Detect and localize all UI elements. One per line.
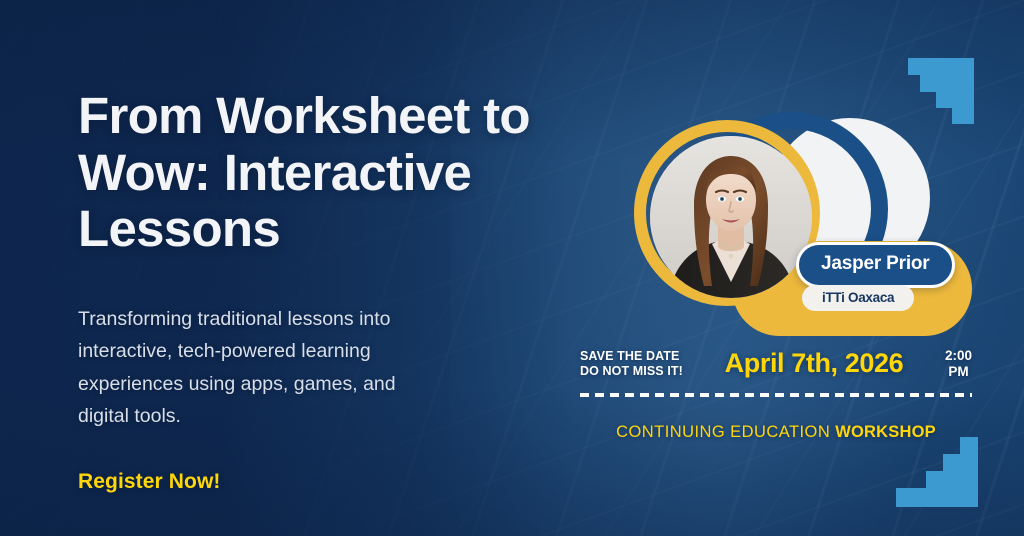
event-date: April 7th, 2026	[683, 348, 945, 379]
page-title: From Worksheet to Wow: Interactive Lesso…	[78, 88, 618, 258]
promo-banner: From Worksheet to Wow: Interactive Lesso…	[0, 0, 1024, 536]
staircase-icon-bottom-right	[896, 437, 978, 512]
register-now-cta[interactable]: Register Now!	[78, 470, 618, 494]
save-the-date-label: SAVE THE DATE DO NOT MISS IT!	[580, 349, 683, 380]
speaker-block: Jasper Prior iTTi Oaxaca	[622, 108, 982, 338]
dashed-divider	[580, 393, 972, 397]
event-time-meridiem: PM	[945, 364, 972, 380]
avatar	[650, 136, 812, 298]
copy-column: From Worksheet to Wow: Interactive Lesso…	[78, 88, 618, 494]
date-row: SAVE THE DATE DO NOT MISS IT! April 7th,…	[580, 348, 972, 380]
save-the-date-line-2: DO NOT MISS IT!	[580, 364, 683, 379]
event-details: SAVE THE DATE DO NOT MISS IT! April 7th,…	[580, 348, 972, 442]
event-category-suffix: WORKSHOP	[835, 423, 936, 441]
event-category-prefix: CONTINUING EDUCATION	[616, 423, 830, 441]
event-time-hour: 2:00	[945, 348, 972, 364]
save-the-date-line-1: SAVE THE DATE	[580, 349, 683, 364]
speaker-name-badge: Jasper Prior	[796, 242, 955, 288]
event-category: CONTINUING EDUCATION WORKSHOP	[580, 423, 972, 442]
subheadline-text: Transforming traditional lessons into in…	[78, 303, 433, 432]
event-time: 2:00 PM	[945, 348, 972, 380]
speaker-organization-badge: iTTi Oaxaca	[802, 285, 914, 311]
